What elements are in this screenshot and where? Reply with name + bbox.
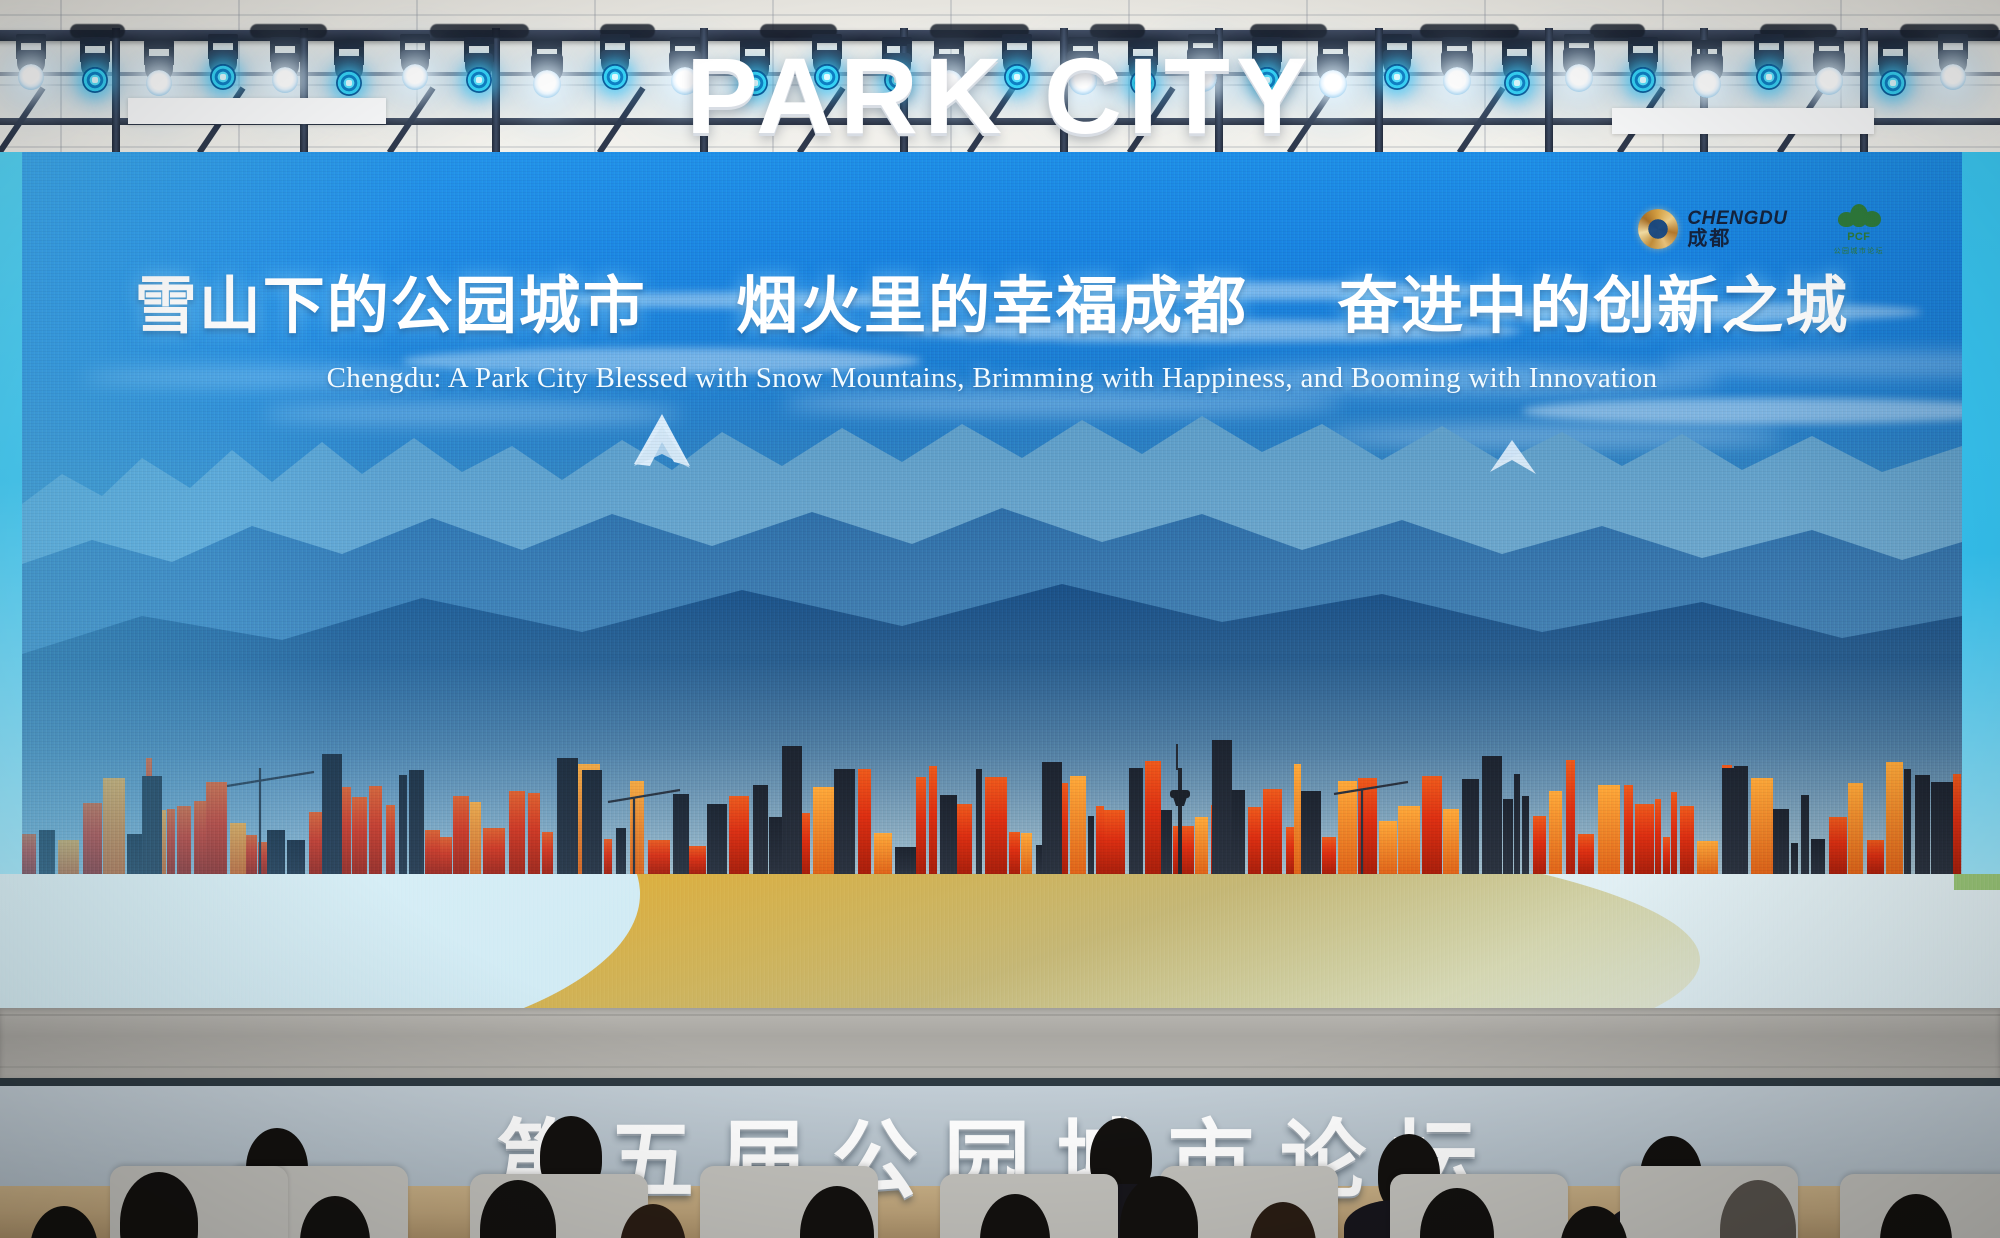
green-accent-strip bbox=[1954, 874, 2000, 890]
screen-logo-row: CHENGDU 成都 PCF 公园城市论坛 bbox=[1638, 202, 1884, 256]
cable-bundle-9 bbox=[1590, 24, 1645, 38]
wall-seam-horizontal bbox=[0, 14, 2000, 16]
sunbird-circle-icon bbox=[1638, 209, 1678, 249]
wave-shape-cyan bbox=[0, 874, 640, 1008]
chengdu-logo-english: CHENGDU bbox=[1687, 209, 1787, 229]
led-wall-assembly: 雪山下的公园城市 烟火里的幸福成都 奋进中的创新之城 Chengdu: A Pa… bbox=[0, 152, 2000, 882]
park-city-wordmark: PARK CITY bbox=[0, 42, 2000, 150]
conference-stage-scene: PARK CITY bbox=[0, 0, 2000, 1238]
headline-part-3: 奋进中的创新之城 bbox=[1337, 269, 1849, 342]
chengdu-logo: CHENGDU 成都 bbox=[1638, 209, 1787, 250]
headline-part-2: 烟火里的幸福成都 bbox=[736, 269, 1248, 342]
audience-head-front-12 bbox=[30, 1206, 98, 1238]
cable-bundle-1 bbox=[250, 24, 327, 38]
stage-floor bbox=[0, 1008, 2000, 1078]
screen-text-block: 雪山下的公园城市 烟火里的幸福成都 奋进中的创新之城 Chengdu: A Pa… bbox=[22, 272, 1962, 395]
cable-bundle-2 bbox=[430, 24, 529, 38]
audience-seating bbox=[0, 1076, 2000, 1238]
led-screen-content: 雪山下的公园城市 烟火里的幸福成都 奋进中的创新之城 Chengdu: A Pa… bbox=[22, 152, 1962, 874]
led-left-light-wash bbox=[22, 152, 1962, 874]
park-city-forum-logo: PCF 公园城市论坛 bbox=[1834, 202, 1884, 256]
headline-part-1: 雪山下的公园城市 bbox=[135, 269, 647, 342]
green-mountain-icon bbox=[1836, 202, 1882, 228]
screen-subtitle-english: Chengdu: A Park City Blessed with Snow M… bbox=[22, 362, 1962, 395]
pcf-logo-chinese: 公园城市论坛 bbox=[1834, 246, 1884, 256]
screen-headline-chinese: 雪山下的公园城市 烟火里的幸福成都 奋进中的创新之城 bbox=[22, 272, 1962, 340]
chengdu-logo-chinese: 成都 bbox=[1687, 228, 1787, 249]
cable-bundle-0 bbox=[70, 24, 125, 38]
stage-front-led-panel bbox=[0, 874, 2000, 1008]
cable-bundle-8 bbox=[1420, 24, 1519, 38]
pcf-logo-english: PCF bbox=[1847, 231, 1870, 243]
